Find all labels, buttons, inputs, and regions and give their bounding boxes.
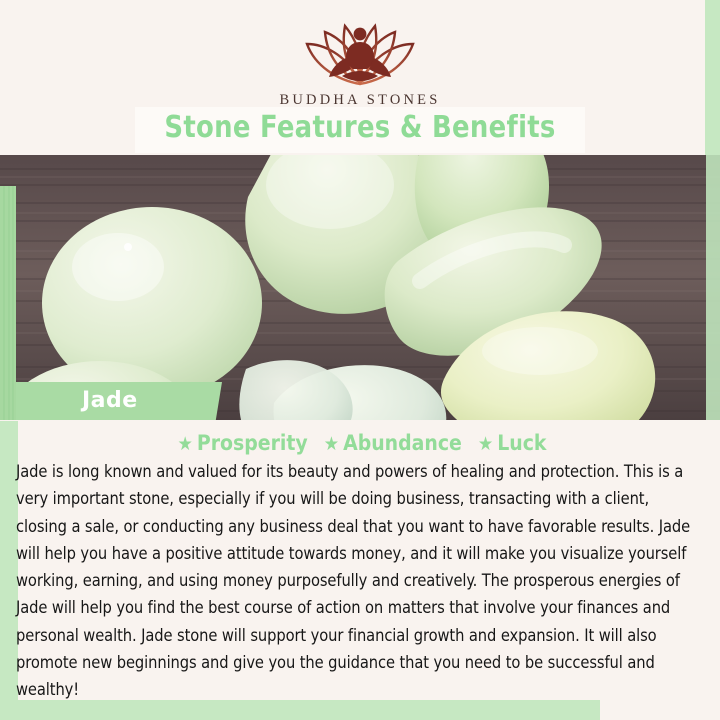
keyword-abundance: Abundance: [343, 431, 462, 455]
star-icon: ★: [324, 433, 339, 455]
infographic-card: BUDDHA STONES Stone Features & Benefits: [0, 0, 720, 720]
brand-logo: BUDDHA STONES: [0, 14, 720, 109]
star-icon: ★: [178, 433, 193, 455]
keyword-prosperity: Prosperity: [197, 431, 308, 455]
stone-name: Jade: [82, 388, 138, 413]
star-icon: ★: [478, 433, 493, 455]
keyword-list: ★Prosperity★Abundance★Luck: [0, 431, 720, 455]
lotus-meditation-icon: [0, 14, 720, 88]
page-title: Stone Features & Benefits: [14, 110, 705, 145]
stone-description: Jade is long known and valued for its be…: [16, 458, 696, 704]
keyword-luck: Luck: [497, 431, 546, 455]
jade-tumbled-stones-photo: [0, 155, 720, 420]
